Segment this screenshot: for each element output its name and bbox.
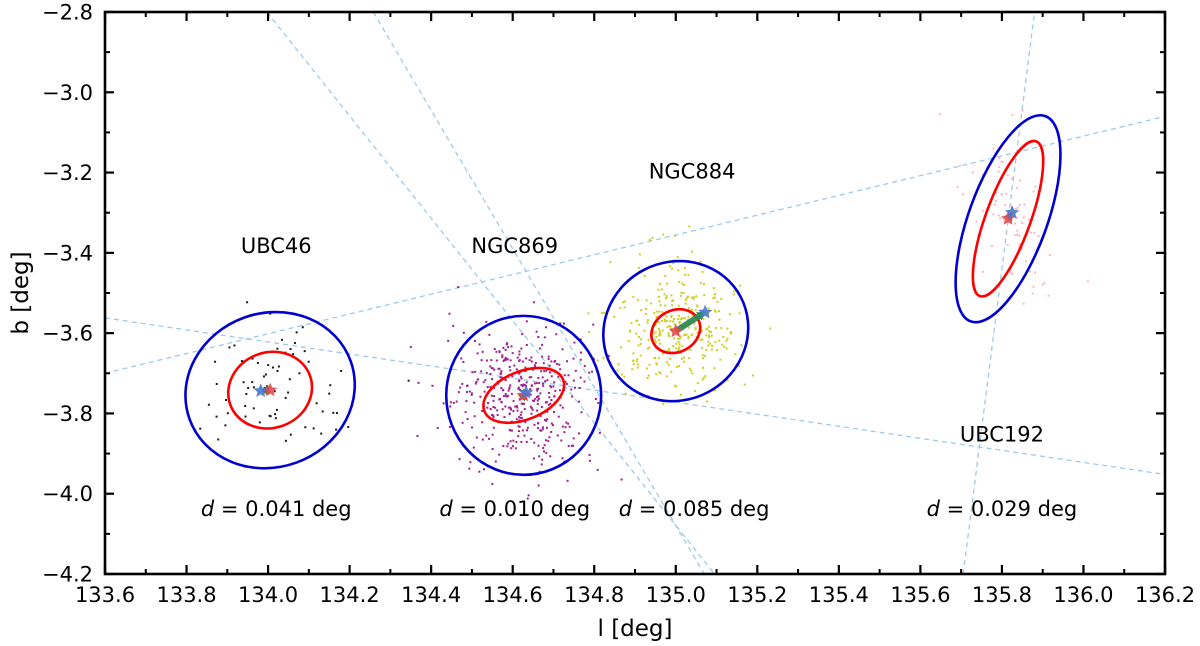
star-point: [716, 349, 718, 351]
star-point: [589, 454, 591, 456]
star-point: [580, 377, 582, 379]
star-point: [521, 403, 523, 405]
star-point: [688, 336, 690, 338]
star-point: [648, 347, 650, 349]
star-point: [696, 306, 698, 308]
star-point: [500, 372, 502, 374]
star-point: [517, 425, 519, 427]
figure-root: 133.6133.8134.0134.2134.4134.6134.8135.0…: [0, 0, 1200, 646]
star-point: [995, 200, 997, 202]
star-point: [517, 410, 519, 412]
star-point: [313, 427, 315, 429]
star-point: [668, 334, 670, 336]
star-point: [578, 401, 580, 403]
star-point: [449, 426, 451, 428]
star-point: [637, 344, 639, 346]
star-point: [533, 457, 535, 459]
star-point: [714, 341, 716, 343]
star-point: [508, 390, 510, 392]
star-point: [703, 377, 705, 379]
star-point: [659, 333, 661, 335]
star-point: [533, 301, 535, 303]
star-point: [491, 378, 493, 380]
star-point: [712, 297, 714, 299]
star-point: [521, 378, 523, 380]
cluster-label-ubc192: UBC192: [960, 423, 1044, 447]
star-point: [216, 416, 218, 418]
y-tick-label: −4.0: [42, 482, 93, 506]
star-point: [521, 333, 523, 335]
star-point: [658, 328, 660, 330]
star-point: [515, 441, 517, 443]
star-point: [276, 409, 278, 411]
star-point: [554, 360, 556, 362]
x-tick-label: 134.2: [320, 583, 380, 607]
star-point: [589, 460, 591, 462]
star-point: [624, 300, 626, 302]
star-point: [686, 297, 688, 299]
star-point: [555, 333, 557, 335]
star-point: [636, 360, 638, 362]
star-point: [668, 349, 670, 351]
star-point: [680, 295, 682, 297]
star-point: [689, 368, 691, 370]
star-point: [568, 445, 570, 447]
star-point: [244, 416, 246, 418]
y-tick-label: −3.0: [42, 81, 93, 105]
star-point: [281, 339, 283, 341]
star-point: [656, 363, 658, 365]
star-point: [509, 413, 511, 415]
star-point: [646, 367, 648, 369]
star-point: [492, 400, 494, 402]
star-point: [1016, 230, 1018, 232]
star-point: [265, 374, 267, 376]
star-point: [216, 383, 218, 385]
star-point: [269, 415, 271, 417]
star-point: [536, 390, 538, 392]
star-point: [502, 389, 504, 391]
star-point: [637, 367, 639, 369]
star-point: [537, 377, 539, 379]
star-point: [587, 312, 589, 314]
star-point: [518, 353, 520, 355]
star-point: [1019, 179, 1021, 181]
star-point: [700, 339, 702, 341]
star-point: [1025, 260, 1027, 262]
star-point: [531, 385, 533, 387]
star-point: [632, 296, 634, 298]
star-point: [658, 311, 660, 313]
star-point: [471, 426, 473, 428]
star-point: [520, 441, 522, 443]
star-point: [545, 452, 547, 454]
star-point: [939, 113, 941, 115]
star-point: [499, 368, 501, 370]
star-point: [661, 320, 663, 322]
star-point: [1023, 303, 1025, 305]
star-point: [545, 439, 547, 441]
star-point: [542, 383, 544, 385]
star-point: [573, 437, 575, 439]
star-point: [1004, 204, 1006, 206]
star-point: [548, 358, 550, 360]
star-point: [623, 376, 625, 378]
star-point: [571, 396, 573, 398]
star-point: [565, 422, 567, 424]
star-point: [982, 210, 984, 212]
star-point: [640, 309, 642, 311]
star-point: [637, 299, 639, 301]
star-point: [669, 358, 671, 360]
star-point: [601, 312, 603, 314]
star-point: [526, 381, 528, 383]
star-point: [666, 361, 668, 363]
star-point: [298, 372, 300, 374]
star-point: [485, 321, 487, 323]
star-point: [483, 468, 485, 470]
star-point: [707, 341, 709, 343]
star-point: [328, 393, 330, 395]
star-point: [668, 364, 670, 366]
star-point: [511, 345, 513, 347]
star-point: [719, 359, 721, 361]
star-point: [667, 332, 669, 334]
star-point: [509, 369, 511, 371]
star-point: [603, 312, 605, 314]
x-tick-label: 135.4: [809, 583, 869, 607]
star-point: [599, 432, 601, 434]
star-point: [548, 436, 550, 438]
star-point: [1010, 271, 1012, 273]
star-point: [285, 440, 287, 442]
star-point: [275, 417, 277, 419]
star-point: [510, 359, 512, 361]
star-point: [573, 358, 575, 360]
star-point: [621, 478, 623, 480]
star-point: [992, 213, 994, 215]
star-point: [628, 340, 630, 342]
star-point: [658, 339, 660, 341]
star-point: [477, 378, 479, 380]
x-tick-label: 136.2: [1135, 583, 1195, 607]
star-point: [418, 382, 420, 384]
star-point: [636, 320, 638, 322]
star-point: [558, 416, 560, 418]
star-point: [706, 401, 708, 403]
star-point: [285, 397, 287, 399]
star-point: [723, 346, 725, 348]
star-point: [702, 271, 704, 273]
star-point: [567, 374, 569, 376]
star-point: [541, 356, 543, 358]
star-point: [541, 344, 543, 346]
star-point: [684, 267, 686, 269]
star-point: [448, 313, 450, 315]
star-point: [640, 338, 642, 340]
star-point: [647, 377, 649, 379]
star-point: [302, 326, 304, 328]
star-point: [624, 306, 626, 308]
star-point: [507, 346, 509, 348]
star-point: [708, 335, 710, 337]
star-point: [541, 459, 543, 461]
star-point: [653, 357, 655, 359]
star-point: [726, 328, 728, 330]
star-point: [705, 349, 707, 351]
star-point: [495, 460, 497, 462]
star-point: [483, 381, 485, 383]
star-point: [516, 405, 518, 407]
star-point: [998, 166, 1000, 168]
star-point: [533, 442, 535, 444]
star-point: [707, 307, 709, 309]
star-point: [681, 317, 683, 319]
y-tick-label: −2.8: [42, 1, 93, 25]
star-point: [678, 305, 680, 307]
star-point: [666, 295, 668, 297]
star-point: [1049, 254, 1051, 256]
star-point: [534, 382, 536, 384]
star-point: [480, 370, 482, 372]
star-point: [720, 327, 722, 329]
x-tick-label: 134.4: [401, 583, 461, 607]
star-point: [329, 384, 331, 386]
star-point: [734, 353, 736, 355]
star-point: [659, 283, 661, 285]
star-point: [1011, 114, 1013, 116]
star-point: [501, 356, 503, 358]
star-point: [453, 402, 455, 404]
star-point: [509, 384, 511, 386]
star-point: [530, 394, 532, 396]
star-point: [485, 435, 487, 437]
x-tick-label: 136.0: [1053, 583, 1113, 607]
cluster-label-ngc869: NGC869: [471, 234, 558, 258]
star-point: [505, 349, 507, 351]
star-point: [655, 373, 657, 375]
star-point: [491, 414, 493, 416]
star-point: [661, 288, 663, 290]
star-point: [458, 391, 460, 393]
star-point: [684, 317, 686, 319]
star-point: [516, 368, 518, 370]
star-point: [478, 471, 480, 473]
star-point: [718, 319, 720, 321]
star-point: [510, 447, 512, 449]
star-point: [570, 388, 572, 390]
star-point: [233, 344, 235, 346]
y-tick-label: −3.6: [42, 322, 93, 346]
star-point: [554, 390, 556, 392]
star-point: [643, 330, 645, 332]
star-point: [688, 307, 690, 309]
star-point: [548, 396, 550, 398]
star-point: [493, 395, 495, 397]
star-point: [431, 385, 433, 387]
star-point: [437, 427, 439, 429]
star-point: [510, 440, 512, 442]
star-point: [730, 332, 732, 334]
star-point: [713, 287, 715, 289]
star-point: [695, 327, 697, 329]
star-point: [542, 428, 544, 430]
star-point: [257, 362, 259, 364]
star-point: [533, 400, 535, 402]
star-point: [500, 401, 502, 403]
distance-label-ubc192: d = 0.029 deg: [927, 497, 1078, 521]
star-point: [681, 358, 683, 360]
star-point: [733, 290, 735, 292]
star-point: [636, 358, 638, 360]
star-point: [1001, 193, 1003, 195]
star-point: [548, 392, 550, 394]
star-point: [665, 297, 667, 299]
star-point: [683, 361, 685, 363]
star-point: [526, 441, 528, 443]
star-point: [507, 443, 509, 445]
star-point: [711, 335, 713, 337]
star-point: [690, 370, 692, 372]
star-point: [655, 341, 657, 343]
star-point: [465, 411, 467, 413]
star-point: [664, 319, 666, 321]
x-tick-label: 135.8: [972, 583, 1032, 607]
star-point: [1023, 203, 1025, 205]
star-point: [550, 386, 552, 388]
star-point: [505, 393, 507, 395]
star-point: [548, 356, 550, 358]
star-point: [1028, 219, 1030, 221]
star-point: [304, 350, 306, 352]
star-point: [468, 468, 470, 470]
star-point: [646, 299, 648, 301]
star-point: [253, 407, 255, 409]
star-point: [408, 380, 410, 382]
x-tick-label: 135.6: [890, 583, 950, 607]
star-point: [669, 265, 671, 267]
star-point: [726, 348, 728, 350]
star-point: [677, 269, 679, 271]
star-point: [514, 406, 516, 408]
star-point: [578, 432, 580, 434]
star-point: [518, 350, 520, 352]
star-point: [722, 336, 724, 338]
star-point: [655, 336, 657, 338]
star-point: [488, 334, 490, 336]
star-point: [584, 365, 586, 367]
star-point: [517, 357, 519, 359]
star-point: [537, 403, 539, 405]
star-point: [549, 365, 551, 367]
star-point: [489, 373, 491, 375]
star-point: [546, 401, 548, 403]
star-point: [679, 321, 681, 323]
star-point: [536, 396, 538, 398]
star-point: [543, 362, 545, 364]
star-point: [975, 221, 977, 223]
star-point: [546, 427, 548, 429]
star-point: [332, 412, 334, 414]
star-point: [544, 336, 546, 338]
star-point: [1034, 272, 1036, 274]
star-point: [574, 387, 576, 389]
star-point: [496, 409, 498, 411]
star-point: [680, 394, 682, 396]
star-point: [493, 369, 495, 371]
star-point: [496, 359, 498, 361]
star-point: [739, 285, 741, 287]
star-point: [316, 402, 318, 404]
star-point: [208, 404, 210, 406]
star-point: [1014, 234, 1016, 236]
star-point: [493, 427, 495, 429]
star-point: [559, 404, 561, 406]
star-point: [672, 345, 674, 347]
star-point: [702, 318, 704, 320]
star-point: [678, 346, 680, 348]
star-point: [681, 283, 683, 285]
star-point: [486, 372, 488, 374]
star-point: [613, 316, 615, 318]
star-point: [502, 347, 504, 349]
cluster-label-ubc46: UBC46: [241, 234, 312, 258]
star-point: [530, 376, 532, 378]
star-point: [999, 217, 1001, 219]
star-point: [659, 330, 661, 332]
star-point: [726, 340, 728, 342]
star-point: [1033, 232, 1035, 234]
star-point: [447, 340, 449, 342]
star-point: [526, 320, 528, 322]
star-point: [671, 300, 673, 302]
star-point: [662, 234, 664, 236]
star-point: [713, 367, 715, 369]
star-point: [647, 319, 649, 321]
star-point: [490, 359, 492, 361]
star-point: [542, 376, 544, 378]
star-point: [320, 433, 322, 435]
star-point: [670, 371, 672, 373]
star-point: [648, 364, 650, 366]
star-point: [247, 387, 249, 389]
star-point: [580, 411, 582, 413]
star-point: [659, 343, 661, 345]
star-point: [522, 361, 524, 363]
star-point: [545, 370, 547, 372]
star-point: [569, 426, 571, 428]
star-point: [588, 331, 590, 333]
star-point: [656, 316, 658, 318]
star-point: [688, 327, 690, 329]
star-point: [733, 293, 735, 295]
star-point: [563, 431, 565, 433]
star-point: [289, 378, 291, 380]
star-point: [559, 389, 561, 391]
star-point: [655, 331, 657, 333]
star-point: [522, 429, 524, 431]
star-point: [685, 303, 687, 305]
star-point: [683, 284, 685, 286]
star-point: [540, 430, 542, 432]
star-point: [684, 334, 686, 336]
star-point: [535, 362, 537, 364]
star-point: [474, 415, 476, 417]
star-point: [518, 416, 520, 418]
star-point: [1005, 193, 1007, 195]
star-point: [632, 352, 634, 354]
star-point: [651, 237, 653, 239]
